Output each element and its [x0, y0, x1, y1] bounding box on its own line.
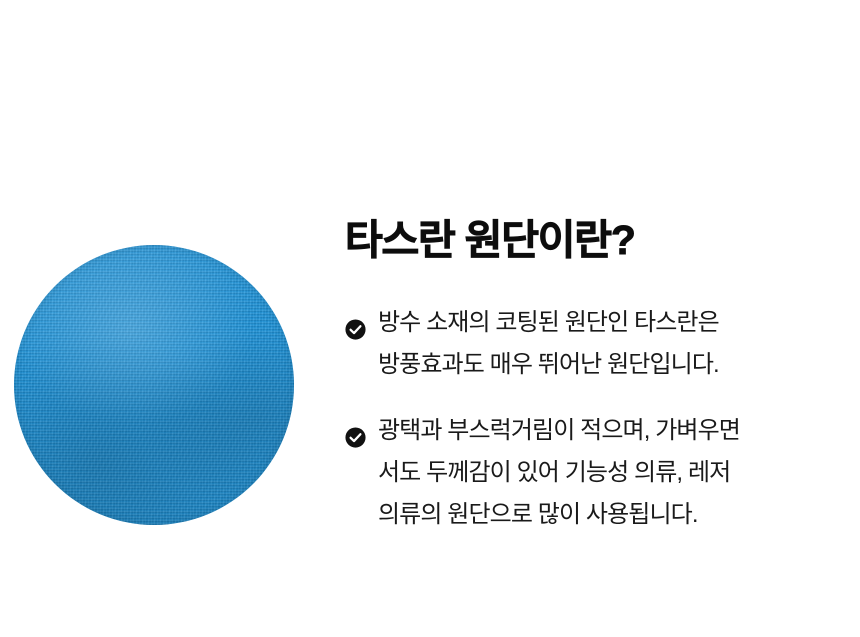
- list-item-line: 의류의 원단으로 많이 사용됩니다.: [378, 494, 845, 536]
- list-item-line: 광택과 부스럭거림이 적으며, 가벼우면: [378, 410, 845, 452]
- fabric-swatch-container: [14, 245, 294, 525]
- product-info-page: 타스란 원단이란? 방수 소재의 코팅된 원단인 타스란은 방풍효과도 매우 뛰…: [0, 0, 860, 637]
- fabric-edge-shadow: [14, 245, 294, 525]
- text-column: 타스란 원단이란? 방수 소재의 코팅된 원단인 타스란은 방풍효과도 매우 뛰…: [345, 216, 845, 536]
- list-item: 방수 소재의 코팅된 원단인 타스란은 방풍효과도 매우 뛰어난 원단입니다.: [345, 302, 845, 386]
- check-circle-icon: [345, 312, 366, 333]
- check-circle-icon: [345, 420, 366, 441]
- list-item-line: 방풍효과도 매우 뛰어난 원단입니다.: [378, 344, 845, 386]
- list-item-text: 광택과 부스럭거림이 적으며, 가벼우면 서도 두께감이 있어 기능성 의류, …: [378, 410, 845, 536]
- page-title: 타스란 원단이란?: [345, 216, 845, 264]
- list-item: 광택과 부스럭거림이 적으며, 가벼우면 서도 두께감이 있어 기능성 의류, …: [345, 410, 845, 536]
- fabric-swatch-circle: [14, 245, 294, 525]
- feature-list: 방수 소재의 코팅된 원단인 타스란은 방풍효과도 매우 뛰어난 원단입니다. …: [345, 302, 845, 536]
- list-item-line: 방수 소재의 코팅된 원단인 타스란은: [378, 302, 845, 344]
- list-item-text: 방수 소재의 코팅된 원단인 타스란은 방풍효과도 매우 뛰어난 원단입니다.: [378, 302, 845, 386]
- list-item-line: 서도 두께감이 있어 기능성 의류, 레저: [378, 452, 845, 494]
